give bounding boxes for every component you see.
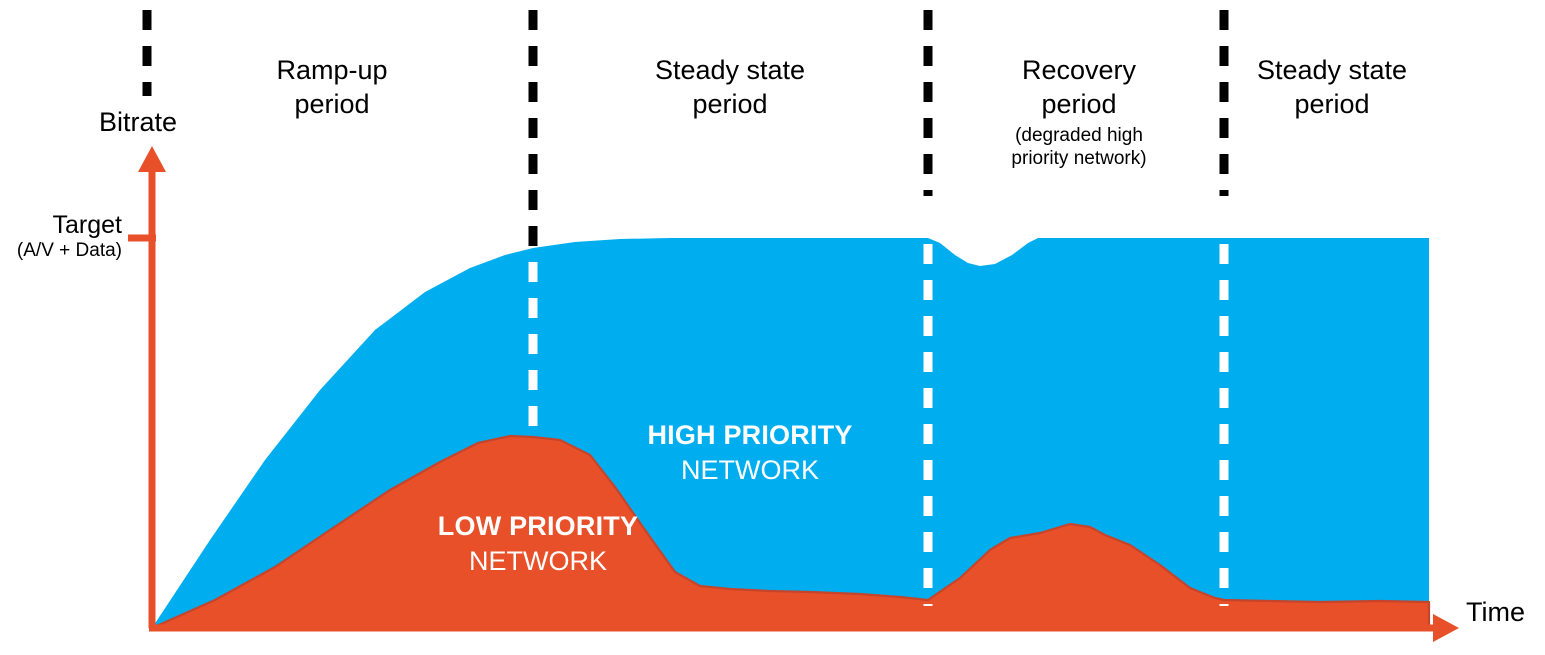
phase-label-steady-state-2: Steady state period [1222,18,1442,122]
phase-title: Ramp-up period [276,55,387,120]
target-tick-label: Target (A/V + Data) [0,211,122,262]
high-priority-network-label: HIGH PRIORITY NETWORK [620,418,880,488]
y-axis-label: Bitrate [99,107,177,138]
y-axis [128,146,166,628]
low-priority-label-main: LOW PRIORITY [405,509,671,544]
low-priority-label-sub: NETWORK [405,544,671,579]
phase-label-ramp-up: Ramp-up period [222,18,442,122]
high-priority-label-main: HIGH PRIORITY [620,418,880,453]
phase-label-steady-state-1: Steady state period [620,18,840,122]
x-axis-label: Time [1466,597,1525,628]
phase-title: Steady state period [1257,55,1407,120]
high-priority-label-sub: NETWORK [620,453,880,488]
phase-title: Steady state period [655,55,805,120]
phase-label-recovery: Recovery period (degraded high priority … [966,18,1192,205]
low-priority-network-label: LOW PRIORITY NETWORK [405,509,671,579]
target-tick-label-main: Target [0,211,122,240]
phase-subtitle: (degraded high priority network) [966,124,1192,170]
figure-root: Ramp-up period Steady state period Recov… [0,0,1545,655]
target-tick-label-sub: (A/V + Data) [0,240,122,262]
phase-title: Recovery period [1022,55,1136,120]
